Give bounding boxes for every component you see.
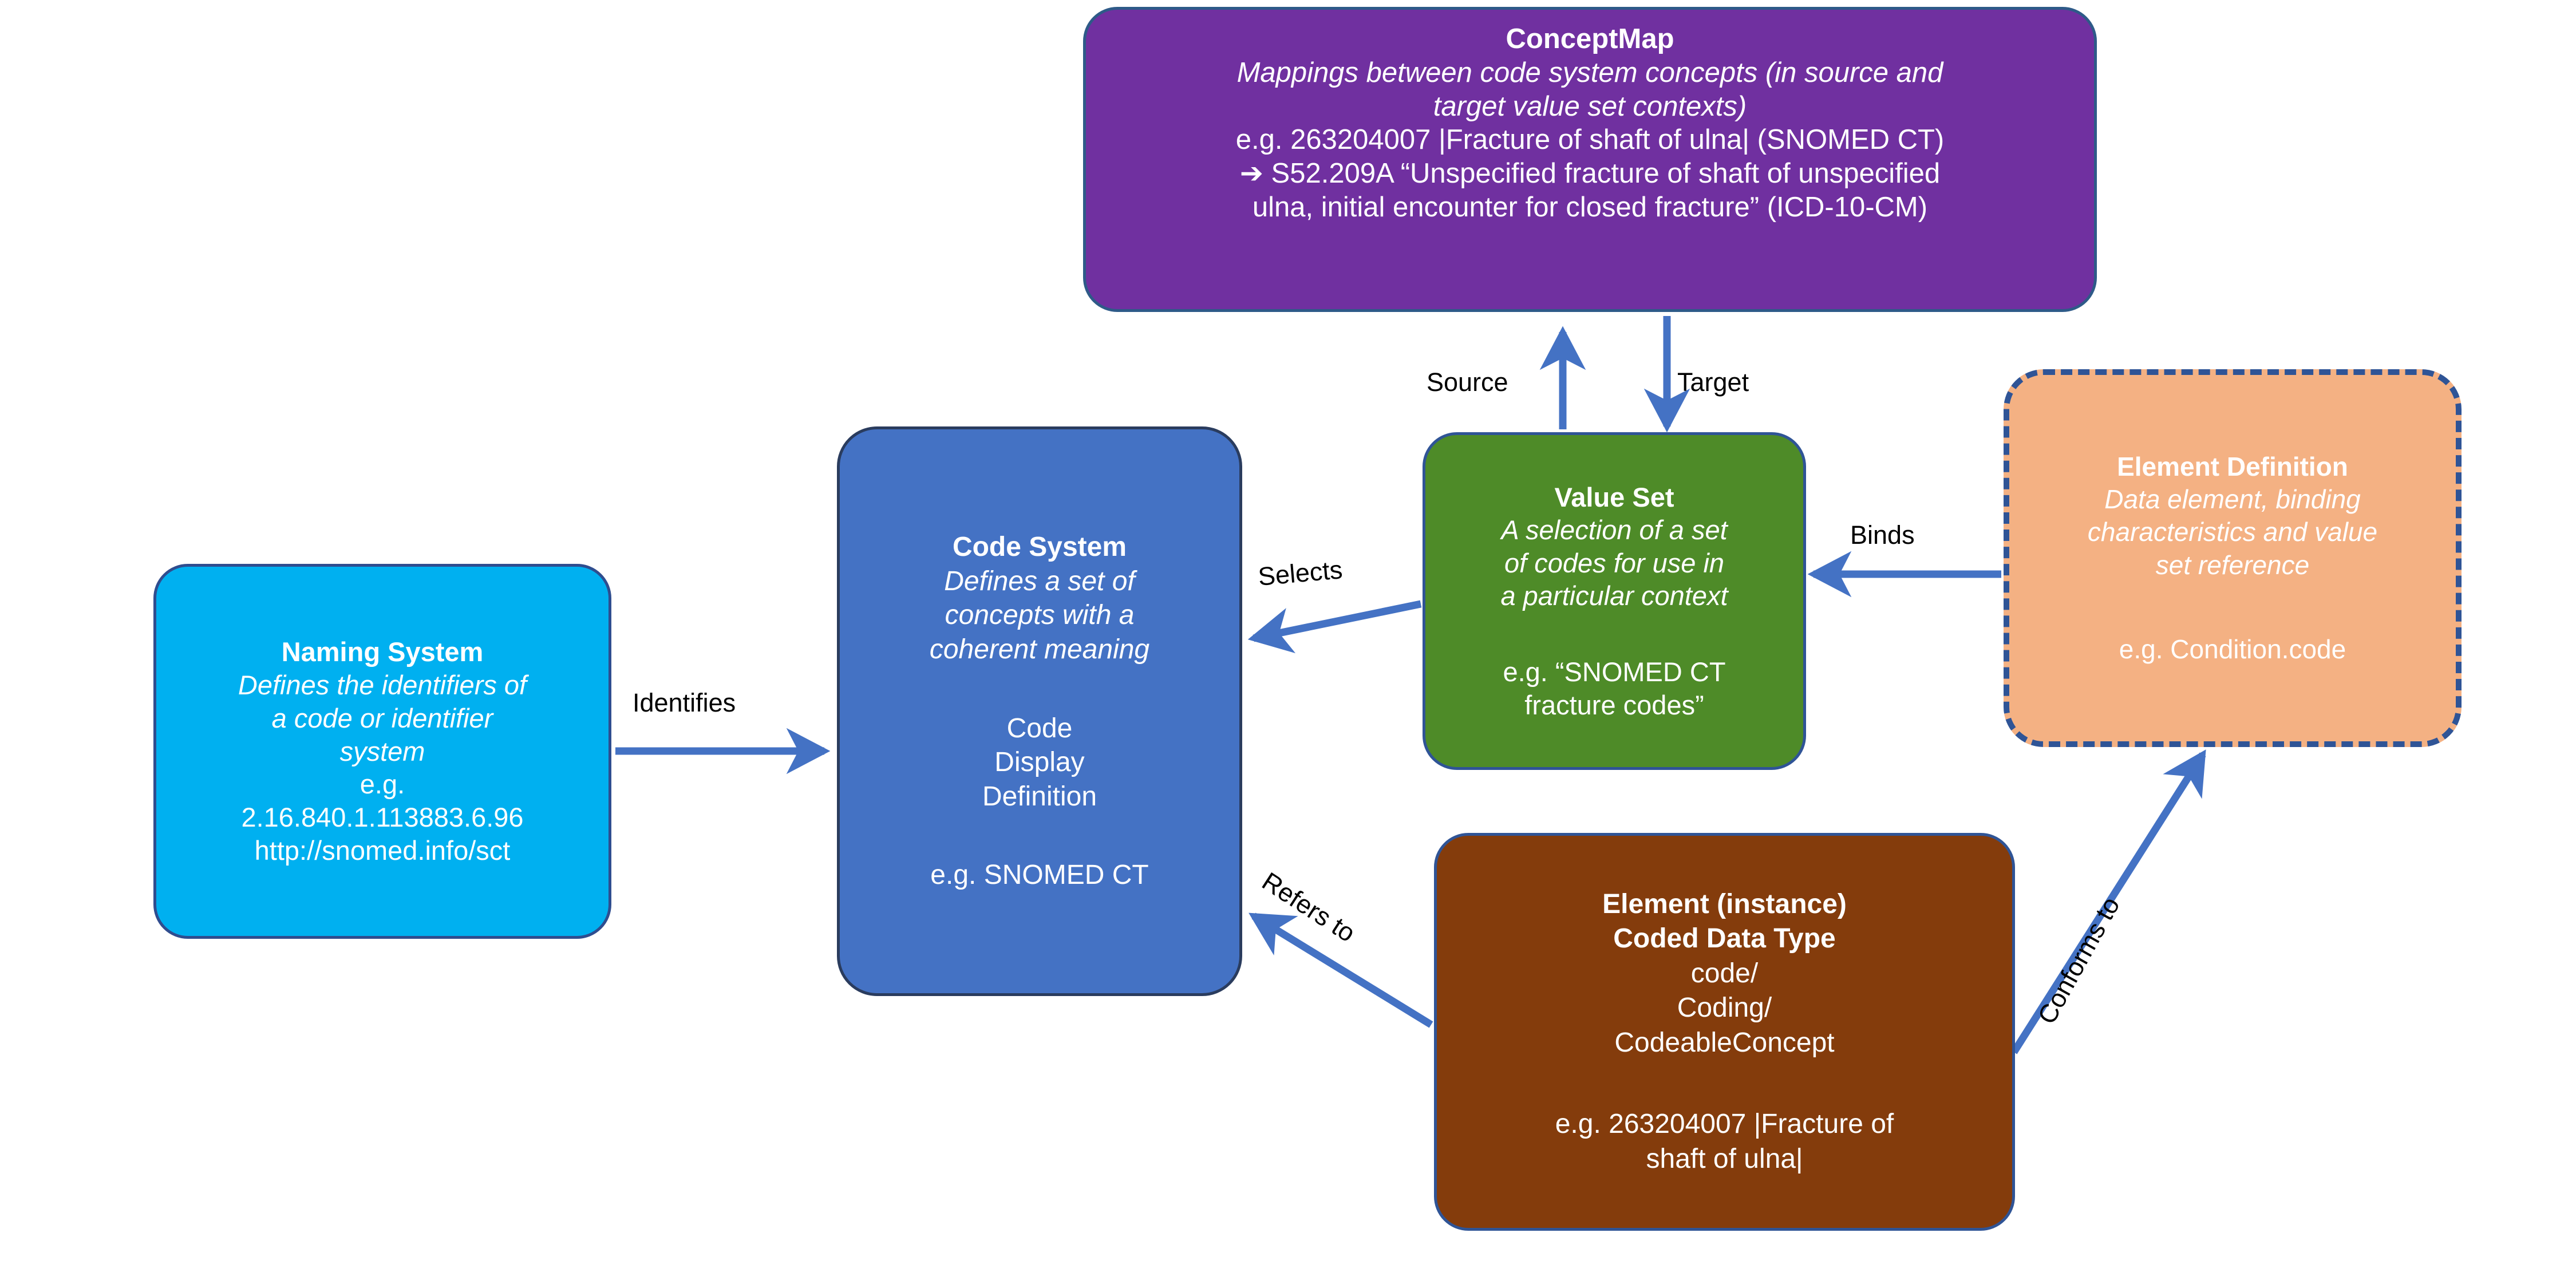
element-instance-title-line-2: Coded Data Type xyxy=(1451,922,1998,956)
element-instance-type-line-1: code/ xyxy=(1451,957,1998,991)
naming-system-title: Naming System xyxy=(170,635,595,669)
code-system-property-line-1: Code xyxy=(854,712,1226,746)
code-system-title: Code System xyxy=(854,530,1226,564)
element-instance-title-line-1: Element (instance) xyxy=(1451,887,1998,922)
edge-label-identifies: Identifies xyxy=(633,690,736,716)
node-element-instance[interactable]: Element (instance) Coded Data Type code/… xyxy=(1434,833,2015,1231)
node-conceptmap[interactable]: ConceptMap Mappings between code system … xyxy=(1083,7,2097,312)
conceptmap-example-line-1: e.g. 263204007 |Fracture of shaft of uln… xyxy=(1100,123,2080,157)
conceptmap-description-line-1: Mappings between code system concepts (i… xyxy=(1100,56,2080,90)
node-value-set[interactable]: Value Set A selection of a set of codes … xyxy=(1423,432,1806,770)
element-definition-title: Element Definition xyxy=(2023,451,2442,483)
conceptmap-title: ConceptMap xyxy=(1100,22,2080,56)
element-definition-gap xyxy=(2023,582,2442,633)
value-set-description-line-2: of codes for use in xyxy=(1439,547,1789,579)
code-system-description-line-2: concepts with a xyxy=(854,598,1226,633)
value-set-description-line-3: a particular context xyxy=(1439,579,1789,612)
element-definition-description-line-1: Data element, binding xyxy=(2023,483,2442,516)
element-definition-example-line-1: e.g. Condition.code xyxy=(2023,633,2442,666)
diagram-canvas: ConceptMap Mappings between code system … xyxy=(0,0,2576,1288)
value-set-gap xyxy=(1439,612,1789,655)
element-instance-gap xyxy=(1451,1060,1998,1107)
edge-label-binds: Binds xyxy=(1850,522,1915,548)
element-instance-type-line-2: Coding/ xyxy=(1451,991,1998,1025)
naming-system-description-line-2: a code or identifier xyxy=(170,702,595,735)
edge-label-target: Target xyxy=(1677,369,1749,395)
code-system-gap-1 xyxy=(854,667,1226,712)
naming-system-example-line-3: http://snomed.info/sct xyxy=(170,834,595,867)
value-set-example-line-1: e.g. “SNOMED CT xyxy=(1439,655,1789,688)
node-element-definition[interactable]: Element Definition Data element, binding… xyxy=(2004,369,2462,747)
element-instance-example-line-2: shaft of ulna| xyxy=(1451,1142,1998,1176)
value-set-title: Value Set xyxy=(1439,481,1789,513)
node-code-system[interactable]: Code System Defines a set of concepts wi… xyxy=(837,426,1242,996)
naming-system-example-line-1: e.g. xyxy=(170,768,595,801)
value-set-example-line-2: fracture codes” xyxy=(1439,689,1789,721)
element-definition-description-line-3: set reference xyxy=(2023,549,2442,582)
arrow-selects xyxy=(1254,604,1421,638)
code-system-gap-2 xyxy=(854,813,1226,858)
element-definition-description-line-2: characteristics and value xyxy=(2023,516,2442,548)
edge-label-source: Source xyxy=(1427,369,1508,395)
naming-system-description-line-1: Defines the identifiers of xyxy=(170,669,595,702)
naming-system-example-line-2: 2.16.840.1.113883.6.96 xyxy=(170,801,595,834)
value-set-description-line-1: A selection of a set xyxy=(1439,513,1789,546)
code-system-description-line-1: Defines a set of xyxy=(854,564,1226,599)
edge-label-selects: Selects xyxy=(1257,556,1344,590)
node-naming-system[interactable]: Naming System Defines the identifiers of… xyxy=(153,564,611,939)
code-system-property-line-2: Display xyxy=(854,745,1226,780)
code-system-description-line-3: coherent meaning xyxy=(854,633,1226,667)
element-instance-type-line-3: CodeableConcept xyxy=(1451,1026,1998,1060)
conceptmap-example-line-3: ulna, initial encounter for closed fract… xyxy=(1100,191,2080,224)
code-system-property-line-3: Definition xyxy=(854,780,1226,814)
element-instance-example-line-1: e.g. 263204007 |Fracture of xyxy=(1451,1107,1998,1141)
conceptmap-example-line-2: ➔ S52.209A “Unspecified fracture of shaf… xyxy=(1100,157,2080,191)
naming-system-description-line-3: system xyxy=(170,735,595,768)
code-system-example-line-1: e.g. SNOMED CT xyxy=(854,858,1226,892)
conceptmap-description-line-2: target value set contexts) xyxy=(1100,90,2080,124)
